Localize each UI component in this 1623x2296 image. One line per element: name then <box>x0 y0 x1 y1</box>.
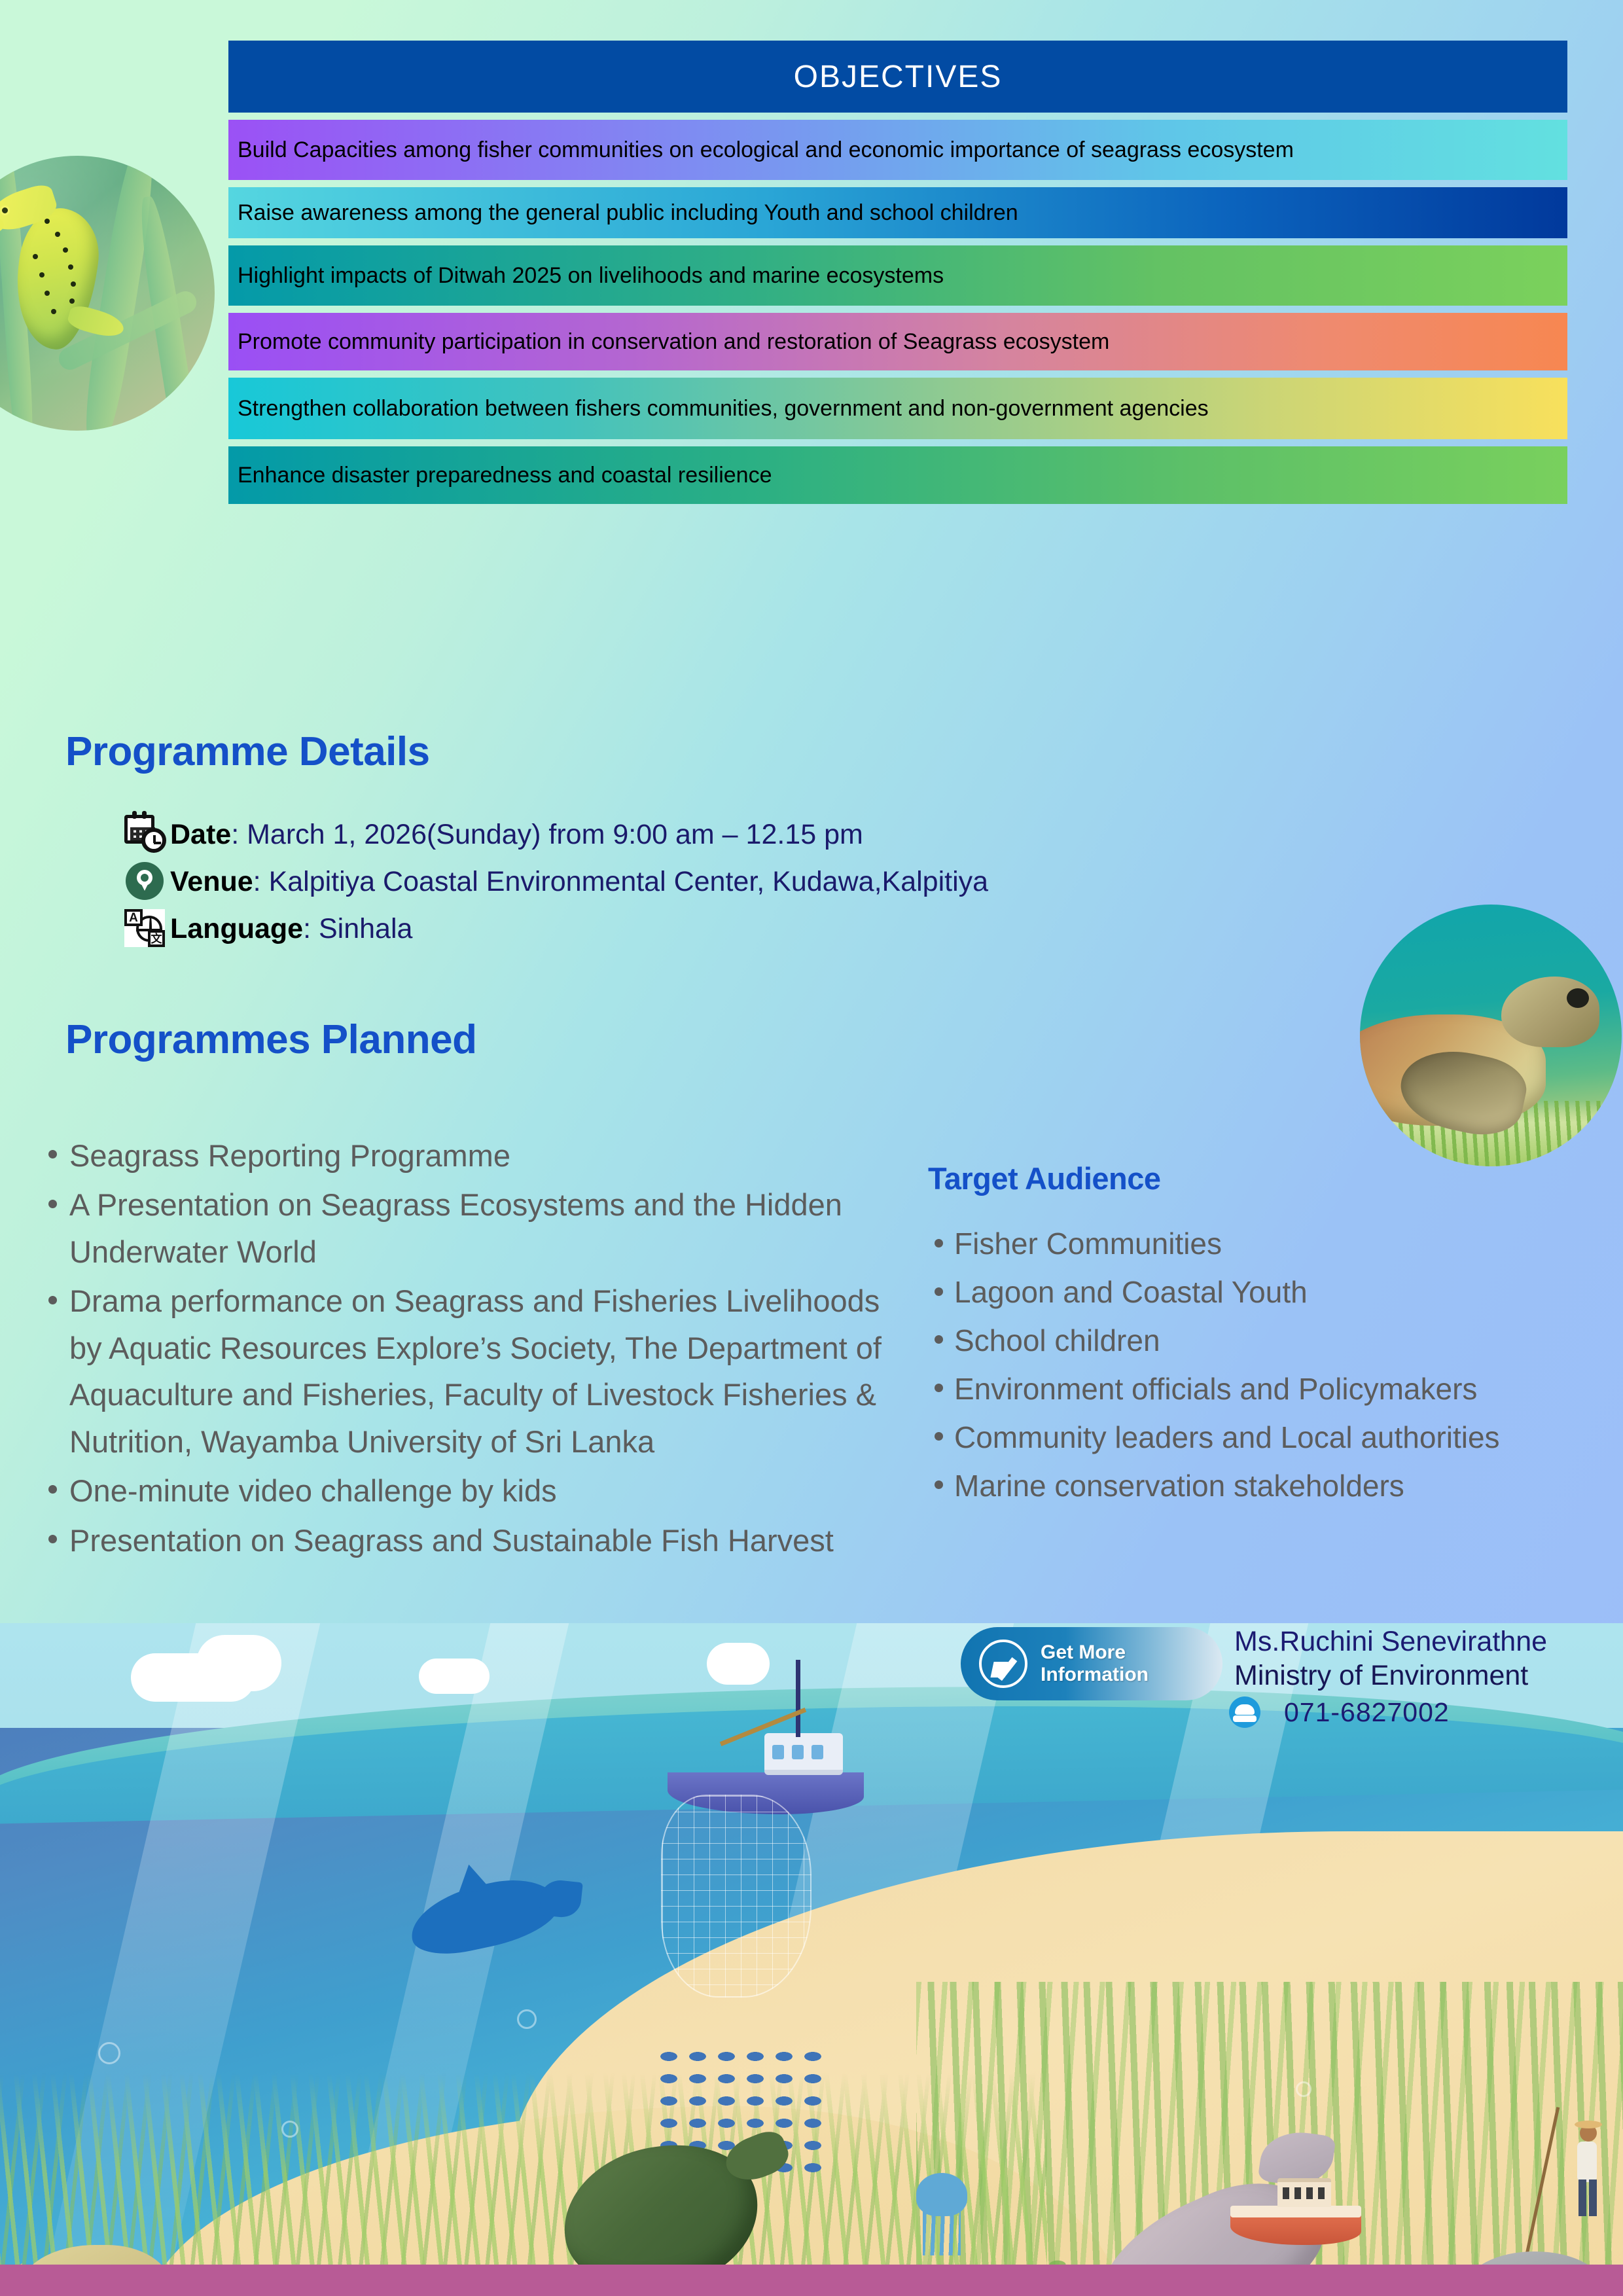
target-audience-title: Target Audience <box>928 1160 1161 1196</box>
detail-language: A 文 Language: Sinhala <box>122 908 1365 951</box>
sea-turtle-photo <box>1360 905 1622 1166</box>
detail-language-value: : Sinhala <box>303 913 412 944</box>
objective-row: Enhance disaster preparedness and coasta… <box>228 446 1567 504</box>
objective-row: Build Capacities among fisher communitie… <box>228 120 1567 180</box>
translate-letter-cjk: 文 <box>148 930 165 947</box>
jellyfish-icon <box>916 2173 967 2216</box>
detail-date-value: : March 1, 2026(Sunday) from 9:00 am – 1… <box>231 819 863 850</box>
detail-venue-text: Venue: Kalpitiya Coastal Environmental C… <box>170 861 988 903</box>
detail-venue: Venue: Kalpitiya Coastal Environmental C… <box>122 861 1365 904</box>
badge-line-2: Information <box>1041 1664 1149 1686</box>
cloud-icon <box>707 1643 770 1685</box>
objective-text: Promote community participation in conse… <box>238 329 1558 355</box>
list-item: Lagoon and Coastal Youth <box>924 1270 1623 1316</box>
location-pin-icon <box>122 861 170 903</box>
objective-text: Raise awareness among the general public… <box>238 200 1558 226</box>
bubble-icon <box>1296 2081 1311 2097</box>
list-item: Environment officials and Policymakers <box>924 1367 1623 1412</box>
list-item: Drama performance on Seagrass and Fisher… <box>39 1278 910 1465</box>
seahorse-eye <box>0 206 10 215</box>
objective-text: Strengthen collaboration between fishers… <box>238 395 1558 422</box>
detail-date-text: Date: March 1, 2026(Sunday) from 9:00 am… <box>170 814 863 855</box>
detail-venue-value: : Kalpitiya Coastal Environmental Center… <box>253 866 988 897</box>
badge-line-1: Get More <box>1041 1641 1149 1664</box>
poster-canvas: OBJECTIVES Build Capacities among fisher… <box>0 0 1623 2296</box>
objectives-header: OBJECTIVES <box>228 41 1567 113</box>
telephone-icon <box>1229 1696 1260 1728</box>
detail-date: Date: March 1, 2026(Sunday) from 9:00 am… <box>122 814 1365 857</box>
list-item: School children <box>924 1318 1623 1364</box>
list-item: A Presentation on Seagrass Ecosystems an… <box>39 1181 910 1275</box>
list-item: Fisher Communities <box>924 1221 1623 1267</box>
turtle-eye <box>1567 988 1589 1008</box>
objective-row: Highlight impacts of Ditwah 2025 on live… <box>228 245 1567 306</box>
target-audience-list: Fisher Communities Lagoon and Coastal Yo… <box>924 1221 1623 1511</box>
fisherman-icon <box>1564 2121 1623 2258</box>
objective-text: Build Capacities among fisher communitie… <box>238 137 1558 163</box>
fishing-net-icon <box>661 1795 811 1998</box>
detail-venue-label: Venue <box>170 866 253 897</box>
list-item: One-minute video challenge by kids <box>39 1467 910 1514</box>
objectives-section: OBJECTIVES Build Capacities among fisher… <box>228 41 1567 504</box>
contact-phone-number: 071-6827002 <box>1284 1697 1450 1728</box>
check-mark-icon <box>979 1640 1027 1688</box>
list-item: Seagrass Reporting Programme <box>39 1132 910 1179</box>
bottom-band <box>0 2265 1623 2296</box>
translate-letter-a: A <box>124 909 143 926</box>
detail-date-label: Date <box>170 819 231 850</box>
bubble-icon <box>517 2009 537 2029</box>
contact-phone-row[interactable]: 071-6827002 <box>1229 1696 1450 1728</box>
fishing-boat-small-icon <box>1230 2173 1361 2245</box>
contact-organisation: Ministry of Environment <box>1234 1660 1528 1692</box>
objective-row: Promote community participation in conse… <box>228 313 1567 370</box>
contact-person-name: Ms.Ruchini Senevirathne <box>1234 1626 1547 1658</box>
seahorse-photo <box>0 156 215 431</box>
detail-language-text: Language: Sinhala <box>170 908 412 950</box>
detail-language-label: Language <box>170 913 303 944</box>
objective-text: Enhance disaster preparedness and coasta… <box>238 462 1558 488</box>
programme-details-title: Programme Details <box>65 728 430 775</box>
list-item: Community leaders and Local authorities <box>924 1415 1623 1461</box>
objective-row: Raise awareness among the general public… <box>228 187 1567 238</box>
bubble-icon <box>281 2121 298 2138</box>
programmes-planned-list: Seagrass Reporting Programme A Presentat… <box>39 1132 910 1566</box>
list-item: Marine conservation stakeholders <box>924 1463 1623 1509</box>
objective-row: Strengthen collaboration between fishers… <box>228 378 1567 439</box>
get-more-information-badge[interactable]: Get More Information <box>961 1627 1222 1700</box>
bubble-icon <box>98 2042 120 2064</box>
list-item: Presentation on Seagrass and Sustainable… <box>39 1517 910 1564</box>
programmes-planned-title: Programmes Planned <box>65 1016 476 1063</box>
contact-block: Get More Information Ms.Ruchini Senevira… <box>961 1611 1615 1729</box>
turtle-head <box>1501 977 1599 1047</box>
calendar-clock-icon <box>122 814 170 855</box>
get-more-label: Get More Information <box>1041 1641 1149 1685</box>
translate-globe-icon: A 文 <box>122 908 170 950</box>
programme-details-list: Date: March 1, 2026(Sunday) from 9:00 am… <box>122 814 1365 955</box>
objective-text: Highlight impacts of Ditwah 2025 on live… <box>238 262 1558 289</box>
